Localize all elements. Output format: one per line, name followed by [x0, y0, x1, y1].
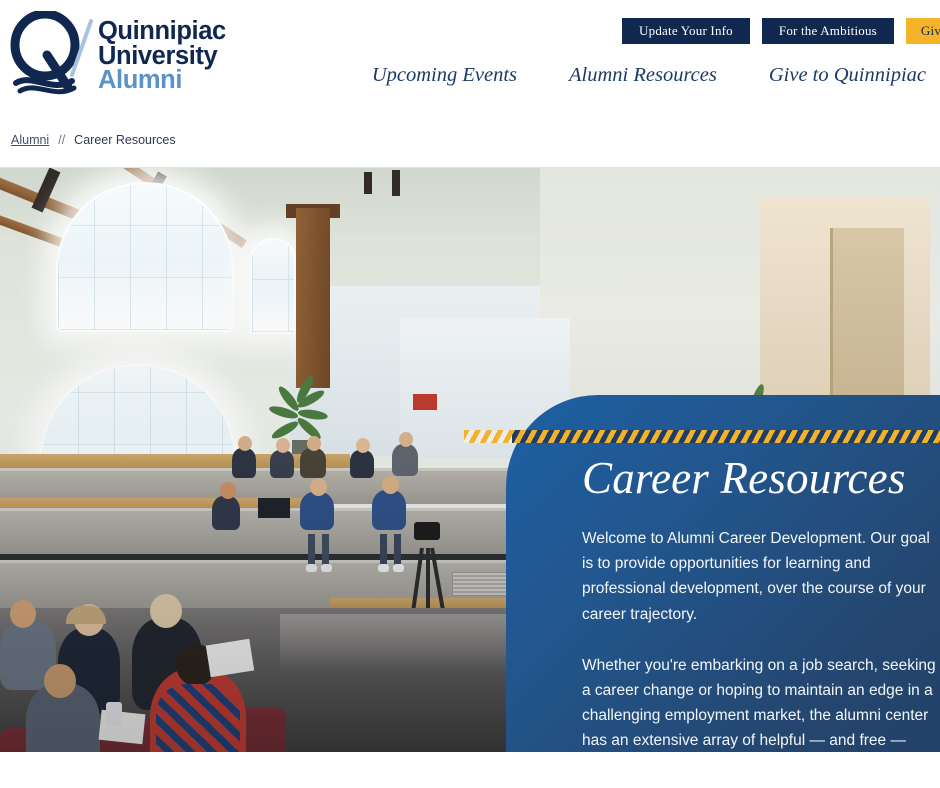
gold-hatch-accent-band: [464, 430, 940, 443]
nav-item-alumni-resources[interactable]: Alumni Resources: [543, 64, 743, 87]
site-header: Quinnipiac University Alumni Update Your…: [0, 0, 940, 112]
breadcrumb-link-alumni[interactable]: Alumni: [11, 133, 49, 147]
update-your-info-button[interactable]: Update Your Info: [622, 18, 750, 44]
logo-line-1: Quinnipiac: [98, 19, 226, 44]
hero-section: Career Resources Welcome to Alumni Caree…: [0, 168, 940, 752]
breadcrumb-separator: //: [58, 133, 65, 147]
hero-paragraph-2: Whether you're embarking on a job search…: [582, 653, 940, 752]
logo-line-2: University: [98, 44, 226, 69]
logo-line-3: Alumni: [98, 68, 226, 93]
nav-item-upcoming-events[interactable]: Upcoming Events: [346, 64, 543, 87]
hero-description: Welcome to Alumni Career Development. Ou…: [582, 526, 940, 752]
hero-paragraph-1: Welcome to Alumni Career Development. Ou…: [582, 526, 940, 626]
quinnipiac-q-logo-icon: [8, 11, 96, 102]
hero-content-panel: Career Resources Welcome to Alumni Caree…: [506, 395, 940, 752]
main-navigation: Upcoming Events Alumni Resources Give to…: [346, 64, 940, 87]
site-logo-link[interactable]: Quinnipiac University Alumni: [8, 10, 226, 102]
give-button[interactable]: Give: [906, 18, 940, 44]
content-spacer: [0, 752, 940, 788]
utility-button-bar: Update Your Info For the Ambitious Give: [622, 18, 940, 44]
logo-wordmark: Quinnipiac University Alumni: [98, 19, 226, 94]
breadcrumb: Alumni // Career Resources: [0, 112, 940, 168]
breadcrumb-current-page: Career Resources: [74, 133, 175, 147]
nav-item-give-to-quinnipiac[interactable]: Give to Quinnipiac: [743, 64, 940, 87]
for-the-ambitious-button[interactable]: For the Ambitious: [762, 18, 894, 44]
page-title: Career Resources: [582, 455, 940, 502]
